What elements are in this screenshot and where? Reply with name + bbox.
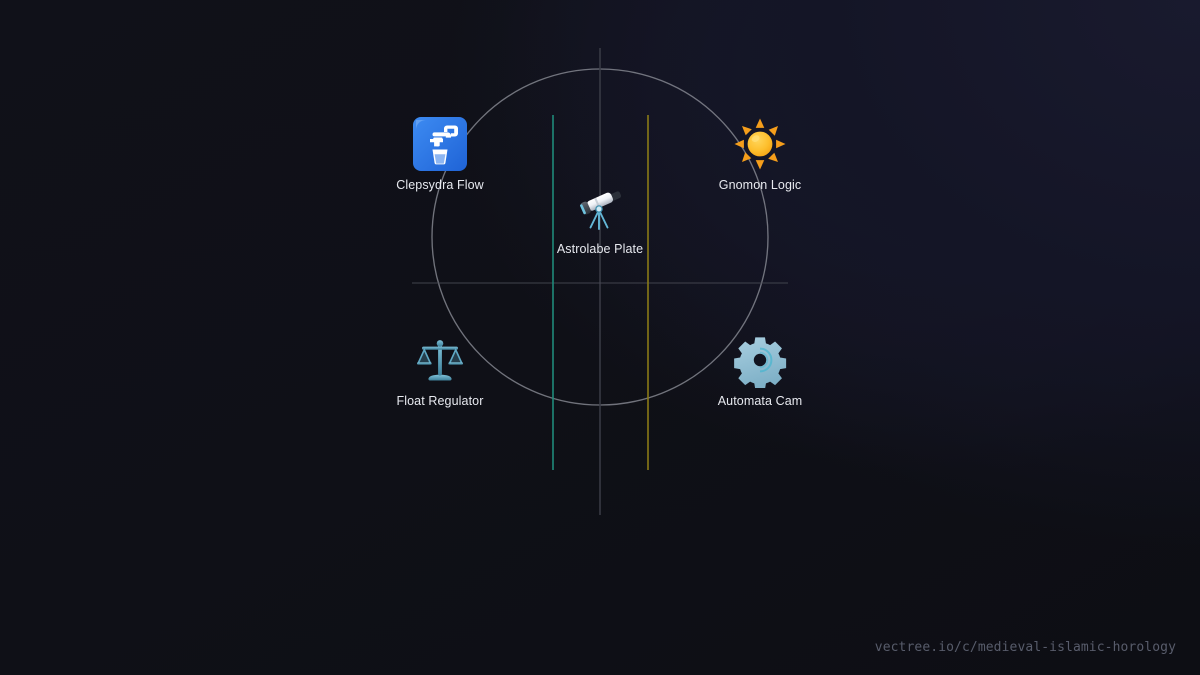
node-automata-cam[interactable]: Automata Cam — [680, 332, 840, 408]
gear-icon — [732, 332, 788, 388]
concept-diagram: Clepsydra Flow — [0, 0, 1200, 520]
diagram-lines — [0, 0, 1200, 520]
node-label: Astrolabe Plate — [520, 242, 680, 256]
node-label: Automata Cam — [680, 394, 840, 408]
node-label: Gnomon Logic — [680, 178, 840, 192]
balance-scale-icon — [412, 332, 468, 388]
permalink: vectree.io/c/medieval-islamic-horology — [875, 640, 1176, 655]
faucet-drip-icon — [412, 116, 468, 172]
node-gnomon-logic[interactable]: Gnomon Logic — [680, 116, 840, 192]
footer: Vectree The physics and engineering of m… — [0, 510, 1200, 675]
telescope-icon — [573, 182, 627, 236]
node-label: Float Regulator — [360, 394, 520, 408]
sun-icon — [732, 116, 788, 172]
node-label: Clepsydra Flow — [360, 178, 520, 192]
node-astrolabe-plate[interactable]: Astrolabe Plate — [520, 182, 680, 256]
node-float-regulator[interactable]: Float Regulator — [360, 332, 520, 408]
node-clepsydra-flow[interactable]: Clepsydra Flow — [360, 116, 520, 192]
